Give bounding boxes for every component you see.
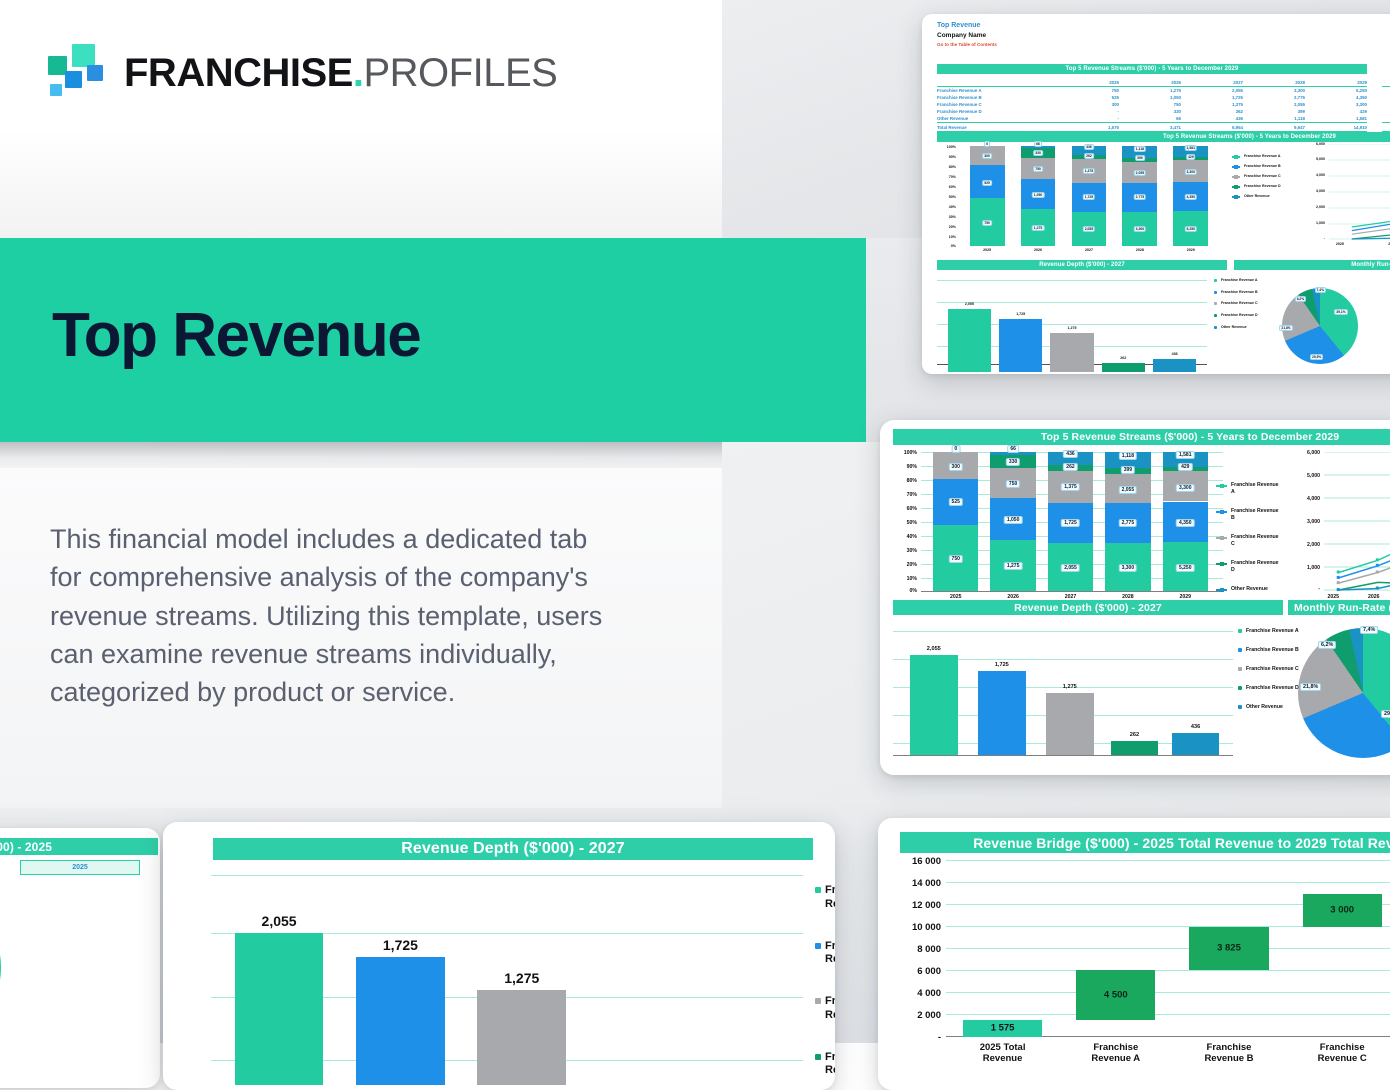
mini-depth-legend: Franchise Revenue A Franchise Revenue B … [1214, 278, 1266, 329]
table-row: - 4,5% 6,2% 4,1% 2,9% [1382, 108, 1390, 115]
background-top-left [0, 0, 722, 238]
depth-big-legend: Franchise Revenue A Franchise Revenue B … [815, 884, 835, 1078]
sheet-table-percent: 2025 2026 2027 2028 2029 47,6% 38,7% 39,… [1382, 78, 1390, 132]
mini-stacked-chart: 100% 90% 80% 70% 60% 50% 40% 30% 20% 10%… [937, 146, 1227, 256]
screenshot-card-bridge[interactable]: Revenue Bridge ($'000) - 2025 Total Reve… [878, 818, 1390, 1090]
sheet-banner-2: Top 5 Revenue Streams ($'000) - 5 Years … [937, 132, 1390, 142]
sheet-toc-link[interactable]: Go to the Table of Contents [937, 42, 997, 47]
screenshot-card-depth[interactable]: Revenue Depth ($'000) - 2027 2,055 1,725… [163, 822, 835, 1090]
sheet-col-2029: 2029 [1305, 80, 1367, 85]
bridge-bar: 1 575 [963, 1020, 1042, 1038]
table-row: Other Revenue - 66 436 1,118 1,581 [937, 115, 1367, 122]
stacked-chart-legend: Franchise Revenue A Franchise Revenue B … [1216, 482, 1282, 593]
sheet-company-name: Company Name [937, 32, 986, 39]
table-row: Franchise Revenue D - 330 362 399 429 [937, 108, 1367, 115]
page-title: Top Revenue [52, 305, 420, 367]
sheet-banner-depth: Revenue Depth ($'000) - 2027 [937, 260, 1227, 270]
sheet-col-2026: 2026 [1119, 80, 1181, 85]
hero-band-shadow [0, 442, 722, 468]
table-total-row: 100,0% 100,0% 100,0% 100,0% 100,0% [1382, 122, 1390, 132]
logo-word-light: PROFILES [363, 51, 557, 95]
stacked-bar-2029: 5,250 4,350 3,300 429 1,581 [1163, 452, 1208, 591]
depth-chart-title: Revenue Depth ($'000) - 2027 [893, 600, 1283, 615]
brand-logo[interactable]: FRANCHISE.PROFILES [48, 44, 557, 102]
pie-2025-title: Monthly Run-Rate ($'000) - 2025 [0, 838, 158, 855]
sheet-col-2027: 2027 [1181, 80, 1243, 85]
bridge-chart: 16 000 14 000 12 000 10 000 8 000 6 000 … [900, 860, 1390, 1080]
revenue-mix-pie-chart: 29,5% 21,8% 6,2% 7,4% [1288, 620, 1390, 770]
depth-big-chart: 2,055 1,725 1,275 [211, 870, 803, 1085]
bridge-bar: 4 500 [1076, 970, 1155, 1020]
runrate-line-chart: 6,000 5,000 4,000 3,000 2,000 1,000 - [1288, 452, 1390, 604]
table-row: 33,3% 31,9% 29,5% 28,8% 29,2% [1382, 94, 1390, 101]
logo-wordmark: FRANCHISE.PROFILES [124, 53, 557, 93]
mini-pie-chart: 39,1% 29,5% 21,8% 6,2% 7,4% [1274, 282, 1364, 372]
stacked-bar-2026: 1,275 1,050 750 330 66 [990, 452, 1035, 591]
table-row: 19,0% 22,8% 21,8% 21,3% 22,1% [1382, 101, 1390, 108]
pie-2025-chart: 47,6% 33,3% 19,0% 0,0% 0,0% [0, 880, 10, 1060]
stacked-bar-2027: 2,055 1,725 1,375 262 436 [1048, 452, 1093, 591]
table-row: - 2,0% 7,4% 11,6% 10,6% [1382, 115, 1390, 122]
sheet-banner-runrate: Monthly Run-Rate ($'000) - 2027 [1234, 260, 1390, 270]
screenshot-card-charts[interactable]: Top 5 Revenue Streams ($'000) - 5 Years … [880, 420, 1390, 775]
logo-mark-icon [48, 44, 108, 102]
bridge-chart-title: Revenue Bridge ($'000) - 2025 Total Reve… [900, 832, 1390, 853]
sheet-col-2028: 2028 [1243, 80, 1305, 85]
table-total-row: Total Revenue 1,575 3,471 5,954 9,647 14… [937, 122, 1367, 132]
mini-stacked-legend: Franchise Revenue A Franchise Revenue B … [1232, 154, 1288, 199]
sheet-doc-title: Top Revenue [937, 22, 980, 29]
stacked-bar-2028: 3,300 2,775 2,055 399 1,118 [1105, 452, 1150, 591]
table-row: Franchise Revenue A 750 1,275 2,055 3,30… [937, 87, 1367, 94]
logo-word-bold: FRANCHISE [124, 51, 353, 95]
pie-2025-year-tag: 2025 [20, 860, 140, 875]
runrate-pie-title: Monthly Run-Rate ($'000) - 2025 [1288, 600, 1390, 615]
stacked-bar-2025: 750 525 300 0 [933, 452, 978, 591]
screenshot-card-spreadsheet[interactable]: Top Revenue Company Name Go to the Table… [922, 14, 1390, 374]
mini-line-chart: 6,000 5,000 4,000 3,000 2,000 1,000 - 20… [1297, 144, 1390, 256]
stacked-bar-chart: 100% 90% 80% 70% 60% 50% 40% 30% 20% 10%… [893, 452, 1223, 604]
sheet-col-2025: 2025 [1057, 80, 1119, 85]
depth-big-title: Revenue Depth ($'000) - 2027 [213, 838, 813, 860]
table-row: Franchise Revenue C 300 750 1,375 2,055 … [937, 101, 1367, 108]
stacked-chart-title: Top 5 Revenue Streams ($'000) - 5 Years … [893, 429, 1390, 445]
bridge-bar: 3 825 [1189, 927, 1268, 970]
logo-word-dot: . [353, 51, 364, 95]
bridge-bar: 3 000 [1303, 894, 1382, 928]
table-row: 47,6% 38,7% 39,1% 34,2% 35,2% [1382, 87, 1390, 94]
sheet-table-values: 2025 2026 2027 2028 2029 Franchise Reven… [937, 78, 1367, 132]
sheet-banner-1: Top 5 Revenue Streams ($'000) - 5 Years … [937, 64, 1367, 74]
page-description: This financial model includes a dedicate… [50, 520, 610, 712]
depth-bar-chart: 2,055 1,725 1,275 262 436 [893, 625, 1233, 763]
mini-depth-chart: 2,055 1,725 1,275 262 436 [937, 276, 1207, 372]
screenshot-card-pie[interactable]: Monthly Run-Rate ($'000) - 2025 2025 47,… [0, 828, 160, 1088]
table-row: Franchise Revenue B 525 1,050 1,725 2,77… [937, 94, 1367, 101]
